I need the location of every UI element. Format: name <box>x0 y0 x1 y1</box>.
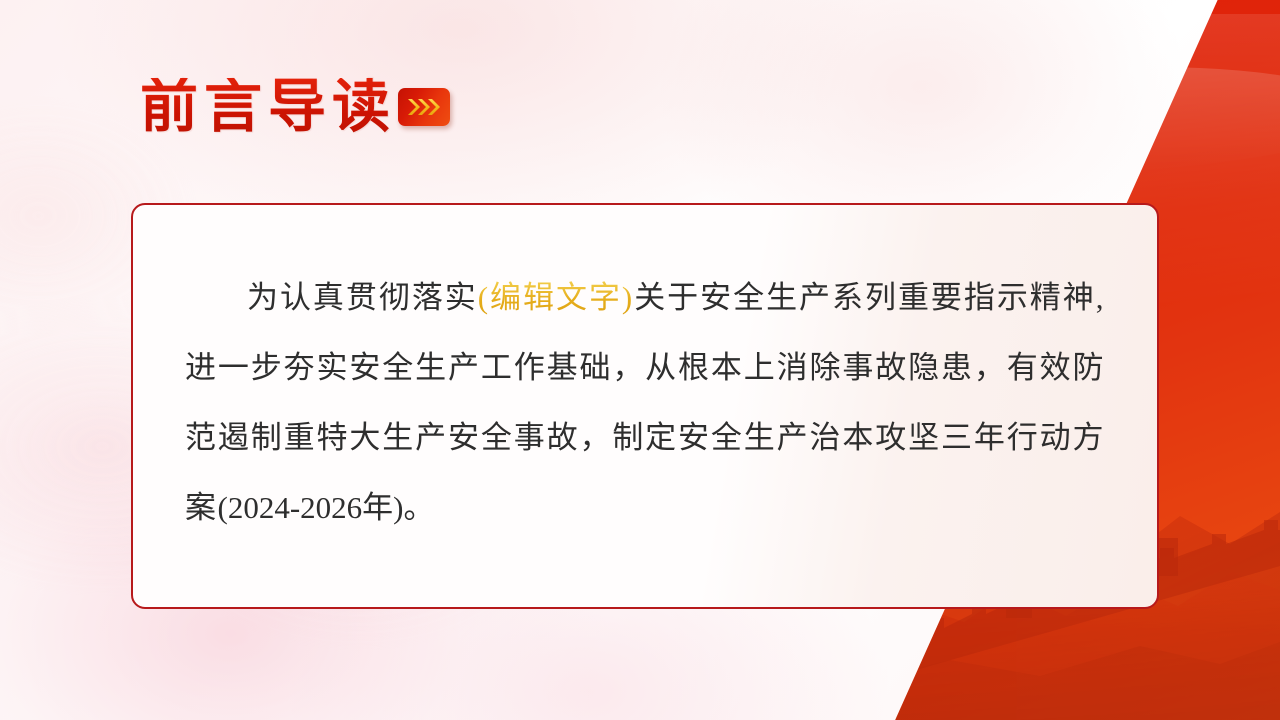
paragraph-tail: 。 <box>403 490 436 525</box>
preface-paragraph: 为认真贯彻落实(编辑文字)关于安全生产系列重要指示精神,进一步夯实安全生产工作基… <box>185 263 1105 543</box>
double-chevron-right-icon <box>398 88 450 126</box>
paragraph-body: 关于安全生产系列重要指示精神,进一步夯实安全生产工作基础，从根本上消除事故隐患，… <box>185 280 1105 525</box>
page-title: 前言导读 <box>140 78 450 136</box>
content-card: 为认真贯彻落实(编辑文字)关于安全生产系列重要指示精神,进一步夯实安全生产工作基… <box>131 203 1159 609</box>
paragraph-lead: 为认真贯彻落实 <box>247 280 478 315</box>
page-title-text: 前言导读 <box>140 78 396 136</box>
editable-text-placeholder[interactable]: (编辑文字) <box>478 280 634 315</box>
content-card-body: 为认真贯彻落实(编辑文字)关于安全生产系列重要指示精神,进一步夯实安全生产工作基… <box>133 205 1157 543</box>
slide-canvas: 前言导读 为认真贯彻落实(编辑文字)关于安全生产系 <box>0 0 1280 720</box>
year-range: (2024-2026年) <box>218 490 404 525</box>
